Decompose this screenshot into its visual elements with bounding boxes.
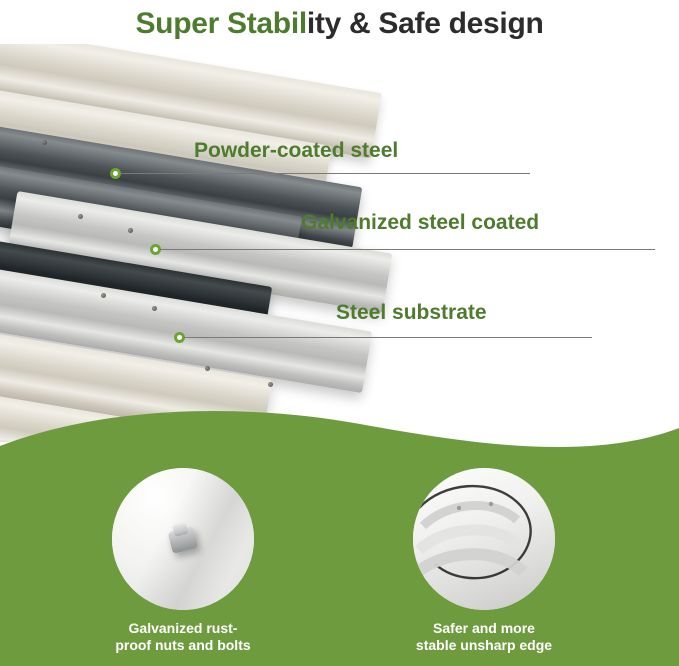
features-section: Galvanized rust- proof nuts and bolts Sa… [0, 400, 679, 666]
product-infographic: Super Stability & Safe design [0, 0, 679, 666]
bolt-icon [78, 214, 83, 219]
callout-label-substrate: Steel substrate [336, 301, 487, 325]
bolt-icon [128, 228, 133, 233]
callout-line-powder-coated [120, 173, 530, 174]
feature-caption: Safer and more stable unsharp edge [369, 620, 599, 654]
callout-line-galvanized [160, 249, 655, 250]
page-title: Super Stability & Safe design [0, 0, 679, 48]
metal-slats-photo: Powder-coated steel Galvanized steel coa… [0, 44, 679, 442]
bolt-icon [101, 293, 106, 298]
callout-label-galvanized: Galvanized steel coated [301, 211, 539, 235]
feature-caption: Galvanized rust- proof nuts and bolts [68, 620, 298, 654]
bolt-head-icon [112, 468, 254, 610]
callout-label-powder-coated: Powder-coated steel [194, 139, 398, 163]
curved-edge-icon [413, 468, 555, 610]
bolt-icon [205, 366, 210, 371]
feature-galvanized-nuts-bolts: Galvanized rust- proof nuts and bolts [68, 468, 298, 654]
callout-line-substrate [184, 337, 592, 338]
bolt-icon [42, 140, 47, 145]
bolt-icon [152, 306, 157, 311]
bolt-icon [268, 382, 273, 387]
feature-unsharp-edge: Safer and more stable unsharp edge [369, 468, 599, 654]
page-title-green: Super Stabil [135, 7, 306, 41]
page-title-dark: ity & Safe design [307, 7, 544, 41]
